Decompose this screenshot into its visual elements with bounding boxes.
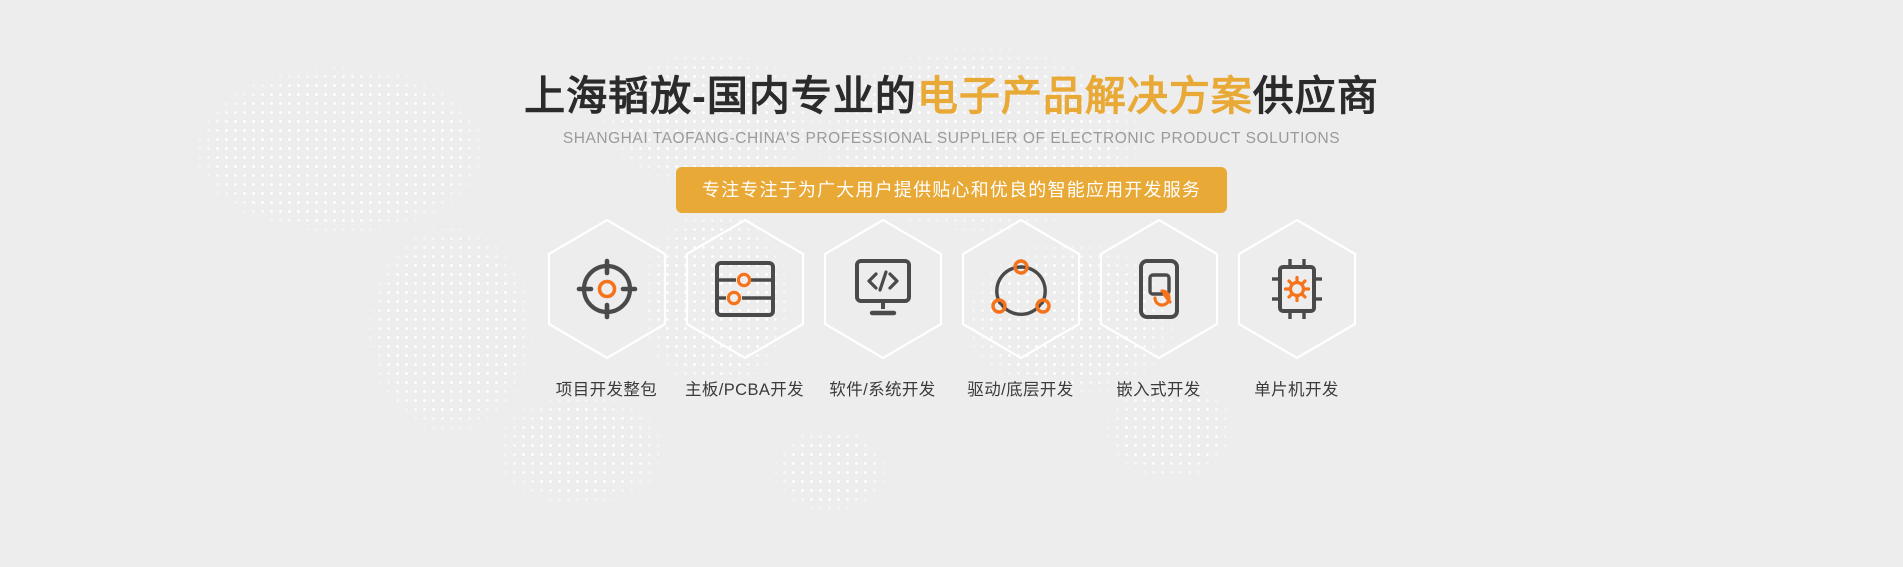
service-label: 单片机开发 — [1254, 376, 1339, 400]
service-label: 项目开发整包 — [556, 376, 657, 400]
hexagon-frame-3 — [821, 218, 945, 360]
headline-part-3: 供应商 — [1253, 73, 1379, 119]
tagline-badge: 专注专注于为广大用户提供贴心和优良的智能应用开发服务 — [676, 167, 1227, 213]
headline-accent: 电子产品解决方案 — [917, 73, 1253, 119]
node-network-icon — [990, 258, 1052, 320]
page-title: 上海韬放-国内专业的电子产品解决方案供应商 — [0, 72, 1903, 121]
service-item-software[interactable]: 软件/系统开发 — [814, 218, 952, 400]
crosshair-target-icon — [576, 258, 638, 320]
badge-row: 专注专注于为广大用户提供贴心和优良的智能应用开发服务 — [0, 167, 1903, 213]
headline-block: 上海韬放-国内专业的电子产品解决方案供应商 SHANGHAI TAOFANG-C… — [0, 72, 1903, 213]
service-item-mcu[interactable]: 单片机开发 — [1228, 218, 1366, 400]
hexagon-frame-2 — [683, 218, 807, 360]
page-subtitle: SHANGHAI TAOFANG-CHINA'S PROFESSIONAL SU… — [0, 130, 1903, 148]
headline-part-1: 上海韬放-国内专业的 — [524, 73, 917, 119]
hexagon-frame-1 — [545, 218, 669, 360]
service-item-pcba[interactable]: 主板/PCBA开发 — [676, 218, 814, 400]
hexagon-frame-5 — [1097, 218, 1221, 360]
embedded-chip-icon — [1131, 258, 1187, 320]
hero-banner: 上海韬放-国内专业的电子产品解决方案供应商 SHANGHAI TAOFANG-C… — [0, 0, 1903, 567]
hexagon-frame-4 — [959, 218, 1083, 360]
microcontroller-icon — [1264, 257, 1330, 321]
service-list: 项目开发整包 主板/PCBA开发 — [538, 218, 1366, 400]
pcb-board-icon — [714, 260, 776, 318]
service-item-embedded[interactable]: 嵌入式开发 — [1090, 218, 1228, 400]
code-monitor-icon — [852, 259, 914, 319]
service-label: 软件/系统开发 — [829, 376, 935, 400]
service-label: 驱动/底层开发 — [967, 376, 1073, 400]
service-item-driver-lowlevel[interactable]: 驱动/底层开发 — [952, 218, 1090, 400]
service-label: 主板/PCBA开发 — [685, 376, 804, 400]
service-label: 嵌入式开发 — [1116, 376, 1201, 400]
service-item-project-package[interactable]: 项目开发整包 — [538, 218, 676, 400]
hexagon-frame-6 — [1235, 218, 1359, 360]
